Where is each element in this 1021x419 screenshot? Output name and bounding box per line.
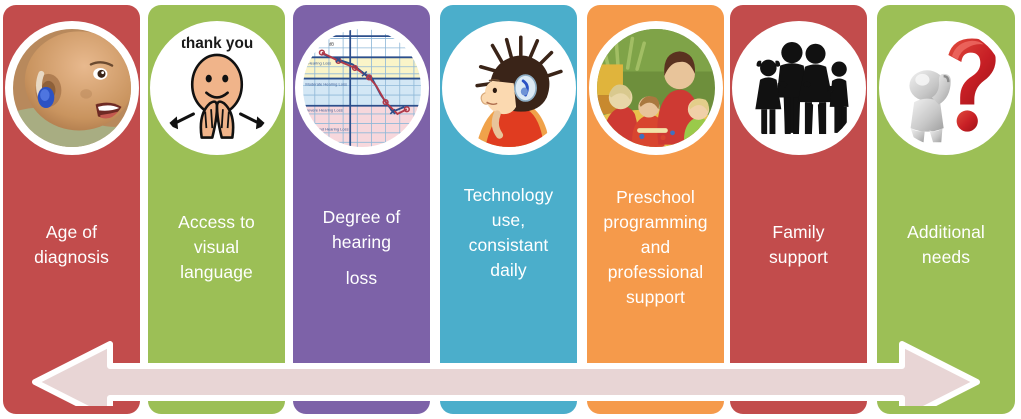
panel-label-technology-use: Technologyuse,consistantdaily xyxy=(446,183,571,283)
label-line: hearing xyxy=(299,230,424,255)
audiogram-chart-artwork: Hearing Loss Moderate Hearing Loss Sever… xyxy=(303,29,421,147)
label-line: daily xyxy=(446,258,571,283)
label-line: language xyxy=(154,260,279,285)
baby-with-hearing-aid-photo xyxy=(9,25,135,151)
svg-text:Severe Hearing Loss: Severe Hearing Loss xyxy=(305,108,342,113)
thank-you-sign-language-illustration-artwork: thank you xyxy=(158,29,276,147)
label-line: use, xyxy=(446,208,571,233)
label-line: visual xyxy=(154,235,279,260)
label-line: programming xyxy=(593,210,718,235)
question-mark-figure-icon-artwork xyxy=(887,29,1005,147)
family-silhouette-icon-artwork xyxy=(740,29,858,147)
preschool-classroom-photo-artwork xyxy=(597,29,715,147)
label-line: consistant xyxy=(446,233,571,258)
svg-text:Hearing Loss: Hearing Loss xyxy=(307,60,331,65)
svg-text:dB: dB xyxy=(328,42,333,47)
label-line: loss xyxy=(299,266,424,291)
question-mark-figure-icon xyxy=(883,25,1009,151)
label-line: Preschool xyxy=(593,185,718,210)
panel-label-degree-of-hearing-loss: Degree ofhearingloss xyxy=(299,205,424,291)
panel-label-age-of-diagnosis: Age ofdiagnosis xyxy=(9,220,134,270)
panel-label-additional-needs: Additionalneeds xyxy=(883,220,1009,270)
label-line: Degree of xyxy=(299,205,424,230)
svg-text:thank you: thank you xyxy=(180,35,252,52)
label-line: Access to xyxy=(154,210,279,235)
preschool-classroom-photo xyxy=(593,25,719,151)
infographic-canvas: Age ofdiagnosis thank you Access tovisua… xyxy=(0,0,1021,419)
panel-label-preschool-programming: Preschoolprogrammingandprofessionalsuppo… xyxy=(593,185,718,310)
thank-you-sign-language-illustration: thank you xyxy=(154,25,280,151)
label-line: professional xyxy=(593,260,718,285)
family-silhouette-icon xyxy=(736,25,862,151)
svg-text:Profound Hearing Loss: Profound Hearing Loss xyxy=(307,126,348,131)
label-line-gap xyxy=(299,255,424,266)
panel-label-family-support: Familysupport xyxy=(736,220,861,270)
label-line: Age of xyxy=(9,220,134,245)
panel-label-access-to-visual-language: Access tovisuallanguage xyxy=(154,210,279,285)
label-line: support xyxy=(736,245,861,270)
child-with-hearing-aid-cartoon xyxy=(446,25,572,151)
baby-with-hearing-aid-photo-artwork xyxy=(13,29,131,147)
label-line: Family xyxy=(736,220,861,245)
svg-text:Moderate Hearing Loss: Moderate Hearing Loss xyxy=(305,82,347,87)
label-line: diagnosis xyxy=(9,245,134,270)
label-line: Additional xyxy=(883,220,1009,245)
label-line: Technology xyxy=(446,183,571,208)
child-with-hearing-aid-cartoon-artwork xyxy=(450,29,568,147)
label-line: and xyxy=(593,235,718,260)
label-line: support xyxy=(593,285,718,310)
label-line: needs xyxy=(883,245,1009,270)
double-headed-horizontal-arrow xyxy=(0,326,1021,406)
audiogram-chart: Hearing Loss Moderate Hearing Loss Sever… xyxy=(299,25,425,151)
